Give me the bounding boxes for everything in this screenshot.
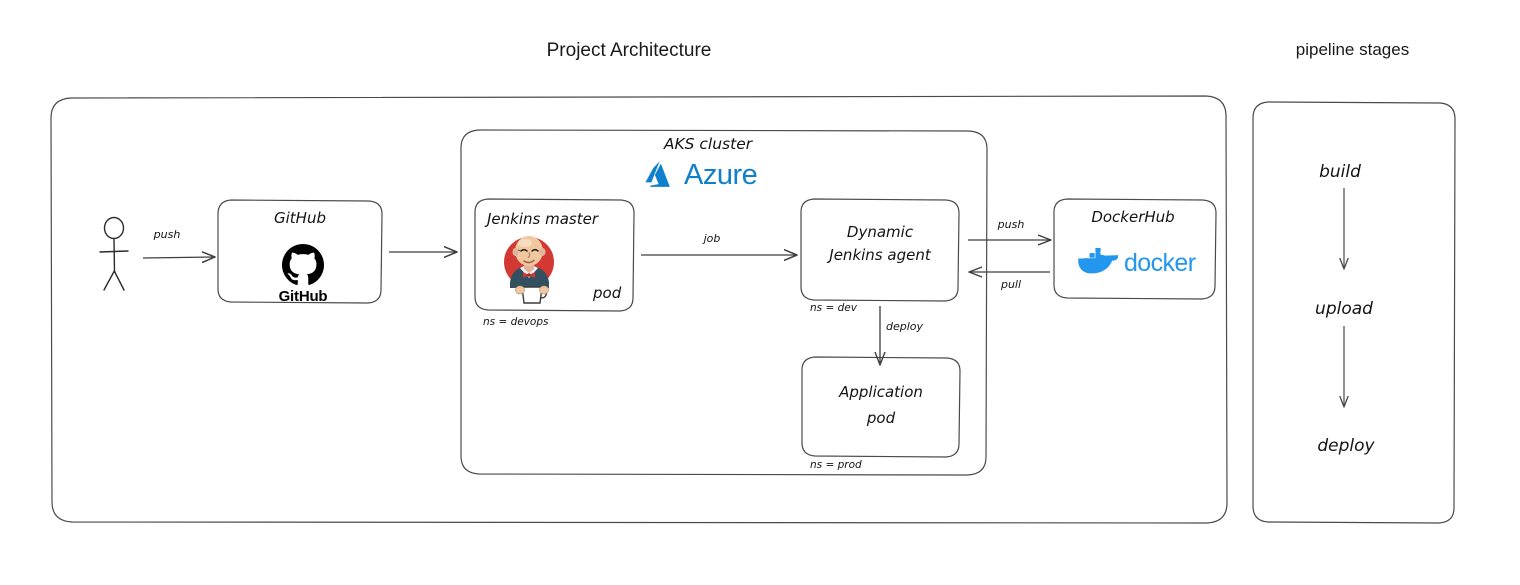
application-pod-box[interactable]	[802, 357, 960, 457]
pipeline-stage-deploy: deploy	[1317, 436, 1374, 456]
azure-logo-text: Azure	[684, 161, 757, 190]
jenkins-logo	[498, 232, 560, 308]
jenkins-master-label: Jenkins master	[487, 210, 598, 228]
application-pod-namespace-label: ns = prod	[810, 459, 862, 471]
edge-label-deploy: deploy	[886, 320, 923, 333]
edge-label-push-to-dockerhub: push	[998, 218, 1025, 231]
dockerhub-node-label: DockerHub	[1091, 208, 1174, 226]
application-pod-label-line2: pod	[867, 409, 895, 427]
docker-whale-icon	[1078, 248, 1118, 279]
azure-logo-icon	[645, 160, 679, 190]
azure-logo: Azure	[645, 160, 757, 190]
edge-label-push-to-github: push	[154, 228, 181, 241]
diagram-canvas: Project Architecture pipeline stages	[0, 0, 1520, 585]
jenkins-agent-label-line1: Dynamic	[847, 223, 913, 241]
jenkins-butler-icon	[498, 232, 560, 304]
docker-logo: docker	[1078, 248, 1195, 279]
edge-push-to-github	[143, 257, 214, 258]
jenkins-master-pod-label: pod	[593, 284, 621, 302]
diagram-vector-layer	[0, 0, 1520, 585]
jenkins-agent-namespace-label: ns = dev	[810, 302, 857, 314]
pipeline-stage-build: build	[1319, 162, 1361, 182]
application-pod-label-line1: Application	[839, 383, 923, 401]
edge-label-job: job	[704, 232, 721, 245]
github-octocat-icon	[282, 244, 324, 286]
architecture-container-box	[51, 96, 1227, 523]
aks-cluster-label: AKS cluster	[664, 135, 752, 153]
github-node-label: GitHub	[274, 209, 326, 227]
edge-label-pull-from-dockerhub: pull	[1001, 278, 1021, 291]
jenkins-master-namespace-label: ns = devops	[483, 316, 549, 328]
docker-logo-text: docker	[1124, 251, 1195, 276]
github-logo: GitHub	[275, 244, 331, 305]
user-stick-figure-icon	[100, 218, 128, 291]
github-logo-text: GitHub	[275, 288, 331, 305]
pipeline-stage-upload: upload	[1315, 299, 1373, 319]
jenkins-agent-label-line2: Jenkins agent	[829, 246, 930, 264]
